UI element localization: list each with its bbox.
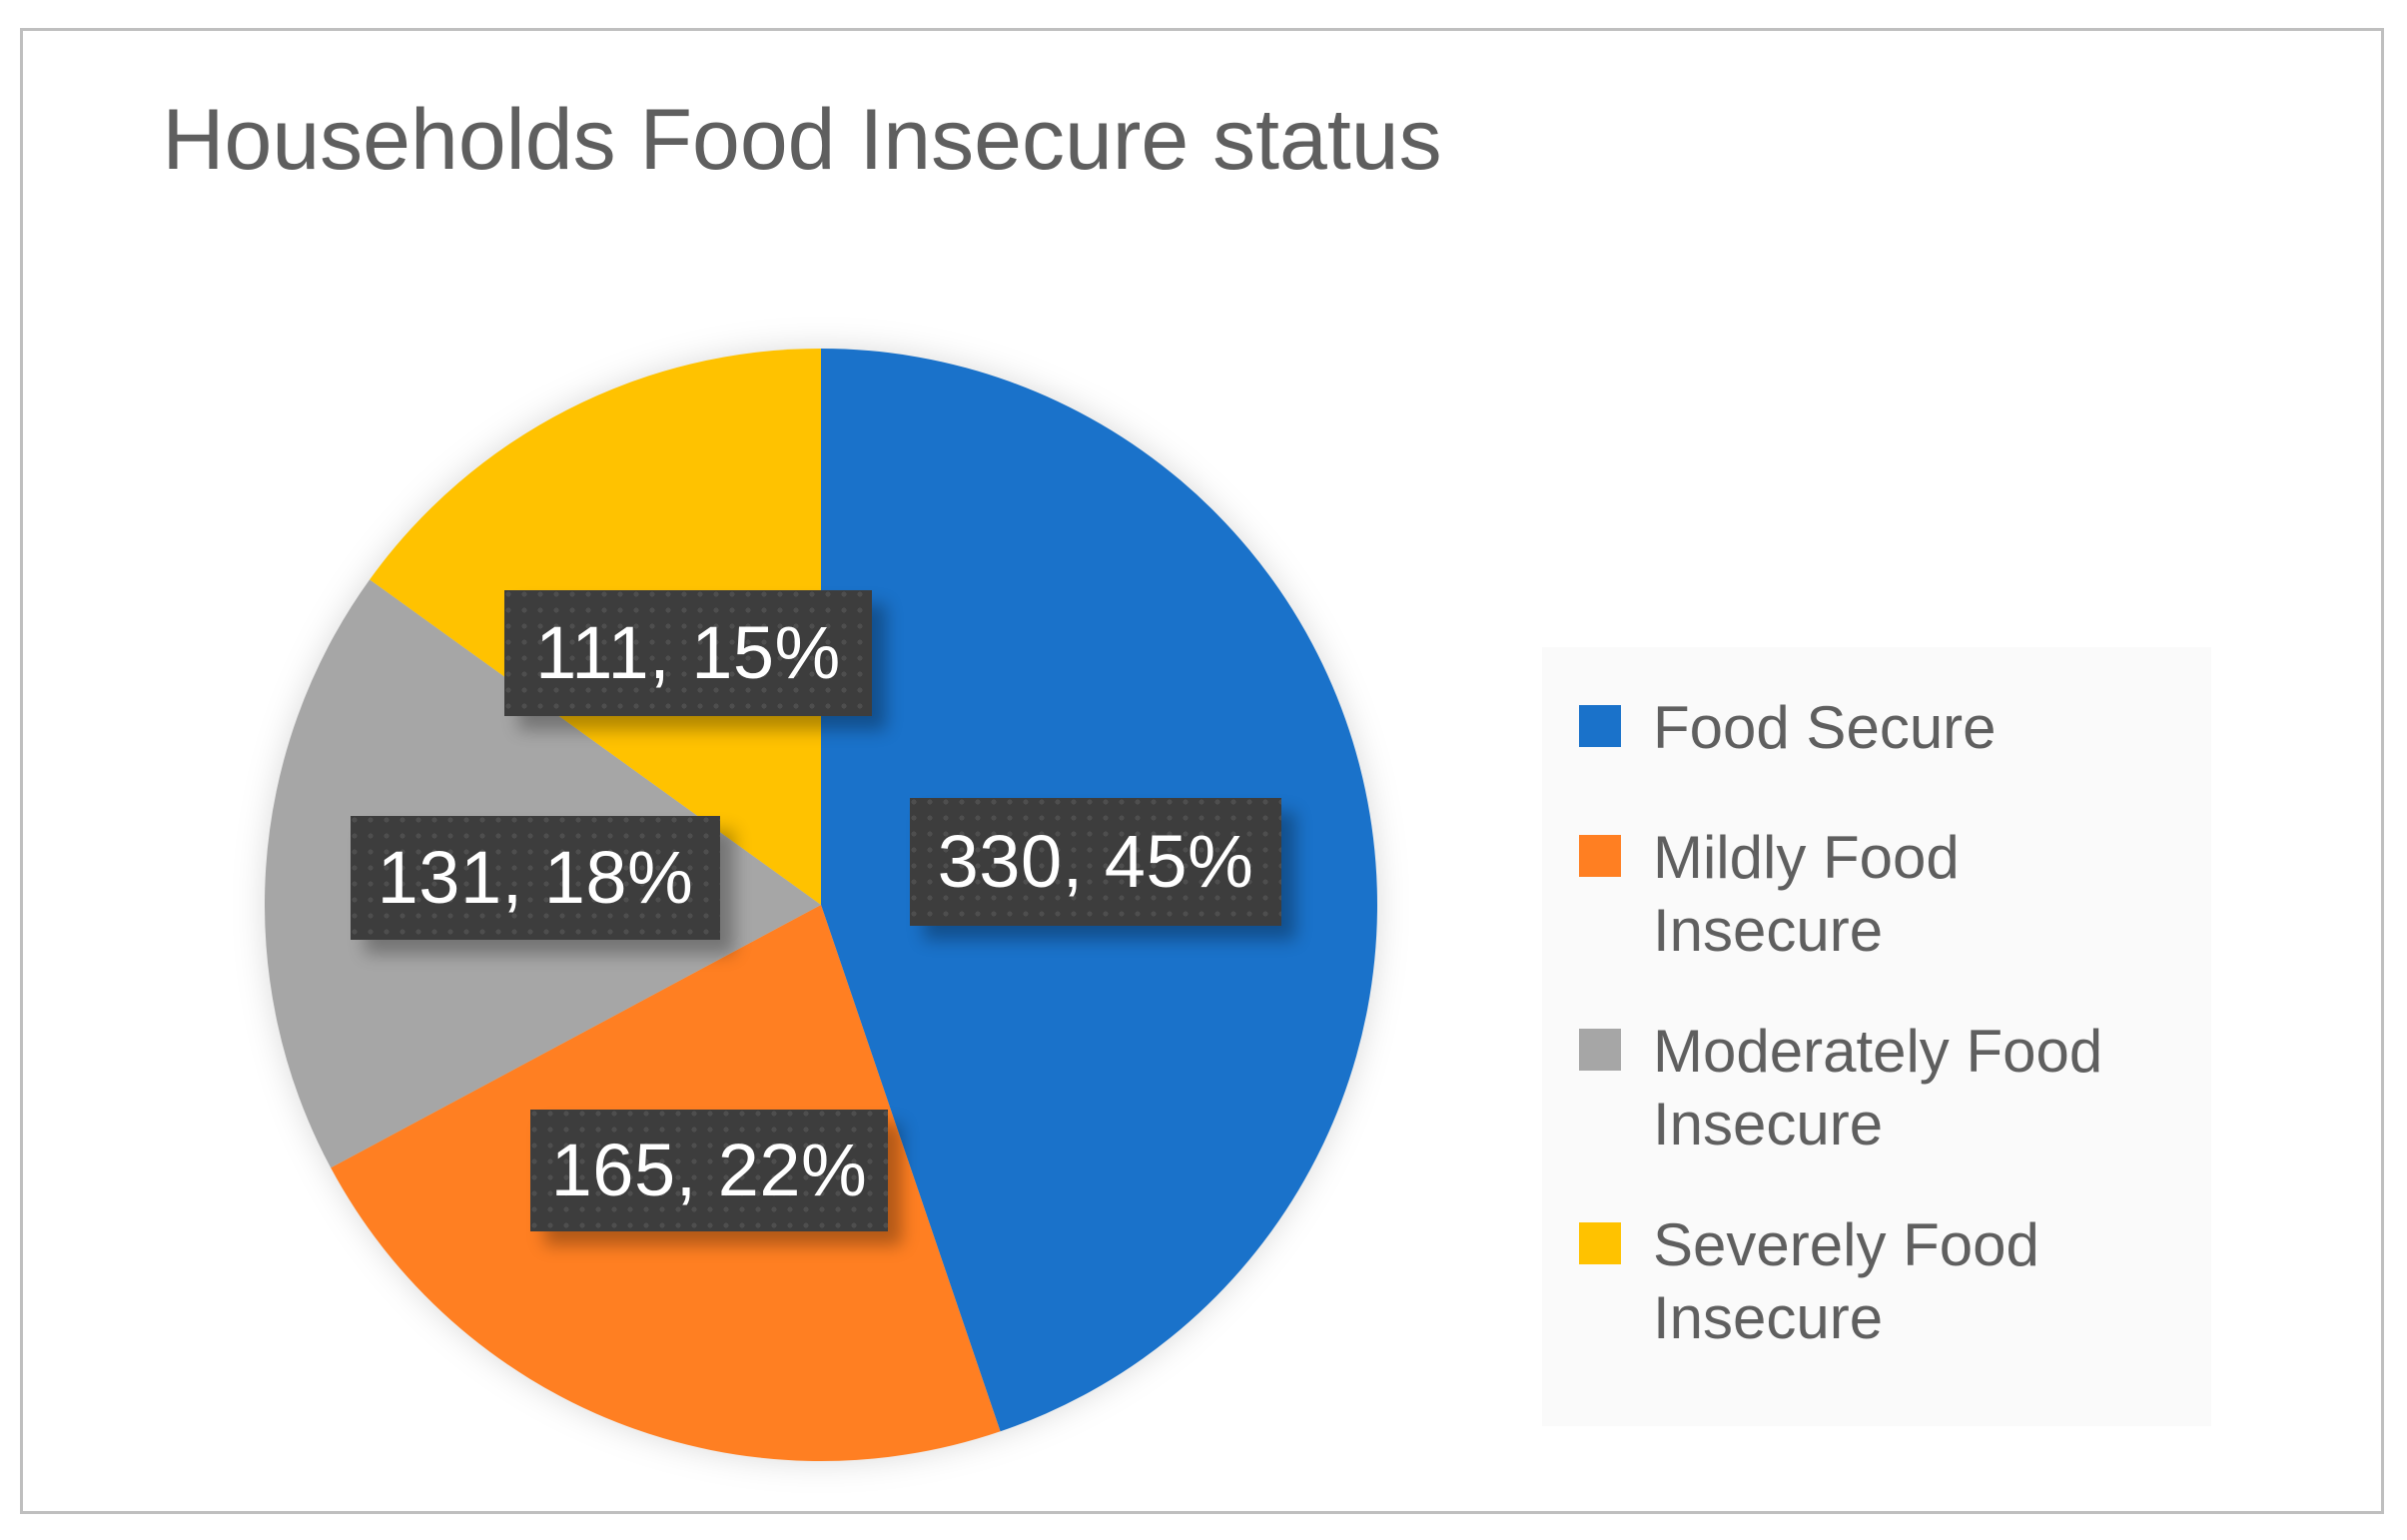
legend-item-moderately-food-insecure[interactable]: Moderately Food Insecure — [1579, 1015, 2172, 1160]
legend-item-label: Food Secure — [1653, 691, 1997, 764]
legend-item-label: Moderately Food Insecure — [1653, 1015, 2172, 1160]
legend-item-food-secure[interactable]: Food Secure — [1579, 691, 1997, 764]
data-label-severely-food-insecure: 111, 15% — [504, 590, 872, 716]
chart-title: Households Food Insecure status — [23, 91, 1581, 190]
data-label-moderately-food-insecure: 131, 18% — [351, 816, 720, 940]
legend-swatch-icon — [1579, 1222, 1621, 1264]
legend-item-label: Severely Food Insecure — [1653, 1208, 2172, 1354]
legend-swatch-icon — [1579, 835, 1621, 877]
data-label-mildly-food-insecure: 165, 22% — [530, 1110, 888, 1231]
legend-swatch-icon — [1579, 1029, 1621, 1071]
data-label-food-secure: 330, 45% — [910, 798, 1281, 926]
chart-frame: Households Food Insecure status 330, 45%… — [20, 28, 2384, 1514]
legend-item-severely-food-insecure[interactable]: Severely Food Insecure — [1579, 1208, 2172, 1354]
legend-swatch-icon — [1579, 705, 1621, 747]
legend-item-label: Mildly Food Insecure — [1653, 821, 2172, 967]
legend-item-mildly-food-insecure[interactable]: Mildly Food Insecure — [1579, 821, 2172, 967]
chart-legend: Food Secure Mildly Food Insecure Moderat… — [1542, 647, 2211, 1426]
